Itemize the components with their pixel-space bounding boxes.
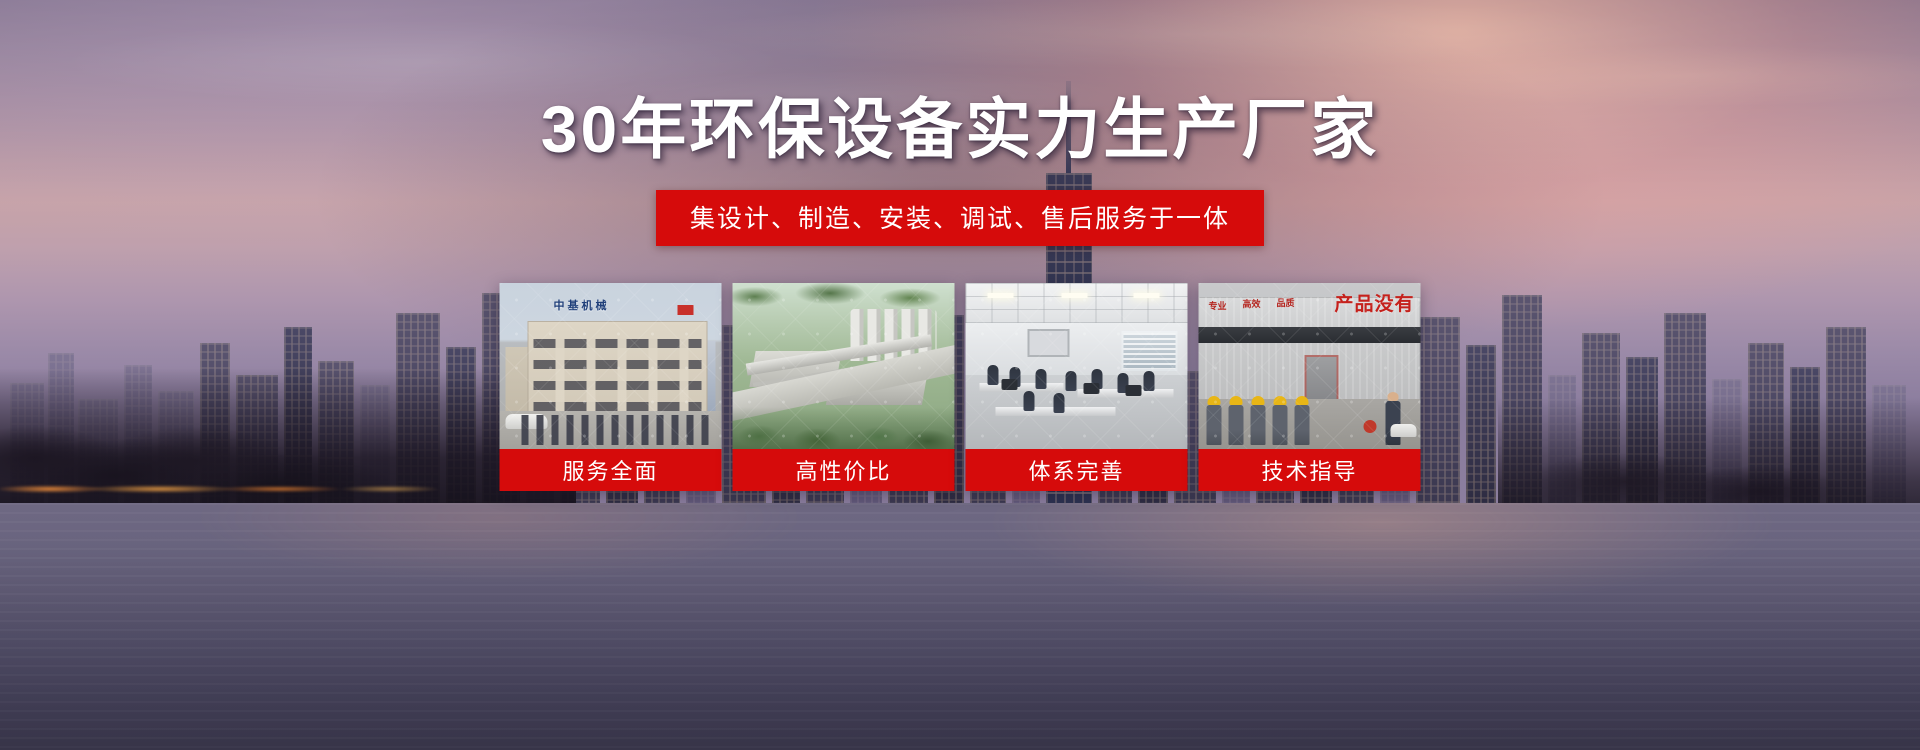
subtitle-badge: 集设计、制造、安装、调试、售后服务于一体 <box>656 190 1264 246</box>
feature-card[interactable]: 中基机械 服务全面 <box>500 283 722 491</box>
wall-headline: 产品没有 <box>1334 289 1414 316</box>
page-title: 30年环保设备实力生产厂家 <box>0 96 1920 162</box>
card-label: 服务全面 <box>500 449 722 491</box>
company-sign: 中基机械 <box>554 297 610 313</box>
card-label: 体系完善 <box>966 449 1188 491</box>
feature-card[interactable]: 高性价比 <box>733 283 955 491</box>
wall-slogan-1: 专业 <box>1209 299 1227 312</box>
flag-icon <box>678 305 694 315</box>
feature-card[interactable]: 专业 高效 品质 产品没有 技术指导 <box>1199 283 1421 491</box>
hero-banner: 30年环保设备实力生产厂家 集设计、制造、安装、调试、售后服务于一体 中基机械 <box>0 0 1920 750</box>
feature-card-list: 中基机械 服务全面 <box>500 283 1421 491</box>
aerial-plant-photo <box>733 283 955 449</box>
feature-card[interactable]: 体系完善 <box>966 283 1188 491</box>
office-building-photo: 中基机械 <box>500 283 722 449</box>
wall-slogan-2: 高效 <box>1243 297 1261 310</box>
card-label: 技术指导 <box>1199 449 1421 491</box>
factory-workers-photo: 专业 高效 品质 产品没有 <box>1199 283 1421 449</box>
office-interior-photo <box>966 283 1188 449</box>
card-label: 高性价比 <box>733 449 955 491</box>
wall-slogan-3: 品质 <box>1277 296 1295 309</box>
